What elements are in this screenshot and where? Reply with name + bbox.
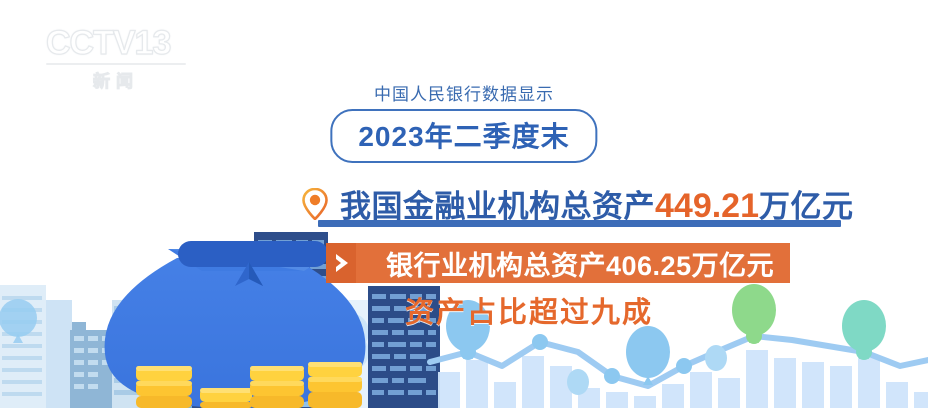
date-badge-label: 2023年二季度末	[358, 121, 569, 152]
cctv-logo-divider	[46, 63, 186, 65]
infographic-stage: CCTV13 新闻 中国人民银行数据显示 2023年二季度末 我国金融业机构总资…	[0, 0, 928, 408]
headline-underline	[318, 220, 841, 227]
location-pin-icon	[302, 188, 328, 220]
headline-label: 我国金融业机构总资产	[340, 189, 655, 224]
headline-unit: 万亿元	[759, 189, 854, 224]
chevron-right-icon	[330, 251, 354, 275]
kicker-text: 中国人民银行数据显示	[0, 80, 928, 105]
cctv-logo-text: CCTV13	[46, 24, 186, 62]
banner-text: 银行业机构总资产406.25万亿元	[386, 244, 774, 283]
subline-text: 资产占比超过九成	[0, 289, 928, 331]
banner: 银行业机构总资产406.25万亿元	[352, 243, 790, 283]
date-badge: 2023年二季度末	[330, 109, 597, 163]
cctv-logo-icon: CCTV13 新闻	[46, 24, 186, 86]
